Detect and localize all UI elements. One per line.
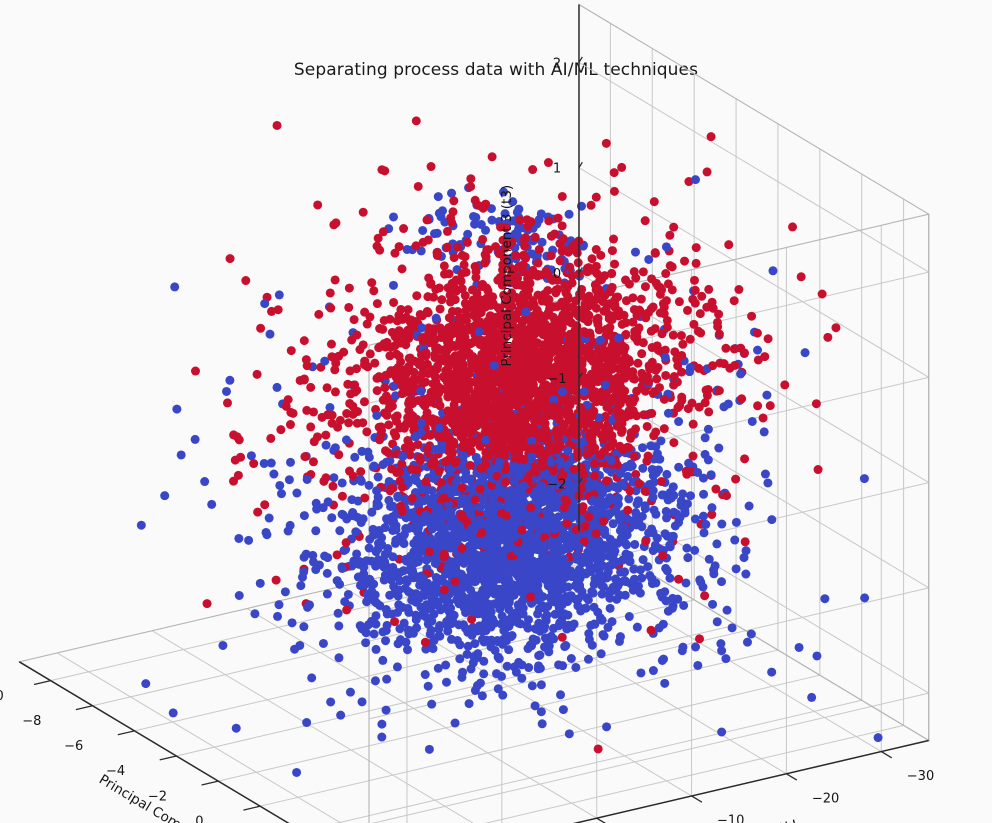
- scatter-point: [466, 182, 475, 191]
- scatter-point: [647, 626, 656, 635]
- scatter-point: [557, 247, 566, 256]
- scatter-point: [361, 638, 370, 647]
- scatter-point: [677, 331, 686, 340]
- scatter-point: [355, 345, 364, 354]
- scatter-point: [623, 515, 632, 524]
- scatter-point: [477, 220, 486, 229]
- scatter3d-axes[interactable]: −10−8−6−4−2024−30−20−1001020−2−1012Princ…: [0, 0, 992, 823]
- scatter-point: [610, 482, 619, 491]
- scatter-point: [350, 453, 359, 462]
- scatter-point: [686, 335, 695, 344]
- scatter-point: [650, 387, 659, 396]
- scatter-point: [724, 399, 733, 408]
- scatter-point: [338, 492, 347, 501]
- scatter-point: [375, 324, 384, 333]
- scatter-point: [421, 477, 430, 486]
- scatter-point: [235, 591, 244, 600]
- scatter-point: [440, 585, 449, 594]
- scatter-point: [722, 491, 731, 500]
- scatter-point: [576, 606, 585, 615]
- scatter-point: [788, 222, 797, 231]
- scatter-point: [549, 467, 558, 476]
- scatter-point: [232, 724, 241, 733]
- scatter-point: [395, 424, 404, 433]
- scatter-point: [494, 684, 503, 693]
- scatter-point: [608, 246, 617, 255]
- scatter-point: [641, 387, 650, 396]
- scatter-point: [422, 348, 431, 357]
- scatter-point: [661, 564, 670, 573]
- scatter-point: [234, 471, 243, 480]
- scatter-point: [422, 215, 431, 224]
- scatter-point: [372, 547, 381, 556]
- scatter-point: [406, 354, 415, 363]
- scatter-point: [586, 621, 595, 630]
- scatter-point: [689, 420, 698, 429]
- scatter-point: [462, 415, 471, 424]
- scatter-point: [445, 339, 454, 348]
- scatter-point: [644, 452, 653, 461]
- scatter-point: [491, 517, 500, 526]
- scatter-point: [609, 235, 618, 244]
- scatter-point: [475, 516, 484, 525]
- scatter-point: [435, 466, 444, 475]
- scatter-point: [249, 459, 258, 468]
- scatter-point: [409, 570, 418, 579]
- scatter-point: [414, 557, 423, 566]
- scatter-point: [431, 559, 440, 568]
- scatter-point: [570, 245, 579, 254]
- scatter-point: [651, 442, 660, 451]
- scatter-point: [513, 547, 522, 556]
- scatter-point: [601, 305, 610, 314]
- scatter-point: [641, 487, 650, 496]
- scatter-point: [678, 340, 687, 349]
- scatter-point: [380, 383, 389, 392]
- scatter-point: [645, 571, 654, 580]
- scatter-point: [428, 524, 437, 533]
- scatter-point: [669, 482, 678, 491]
- scatter-point: [350, 315, 359, 324]
- scatter-point: [428, 460, 437, 469]
- scatter-point: [495, 411, 504, 420]
- scatter-point: [509, 507, 518, 516]
- scatter-point: [552, 425, 561, 434]
- scatter-point: [762, 391, 771, 400]
- scatter-point: [500, 519, 509, 528]
- scatter-point: [717, 520, 726, 529]
- scatter-point: [260, 299, 269, 308]
- scatter-point: [655, 623, 664, 632]
- scatter-point: [388, 610, 397, 619]
- scatter-point: [460, 371, 469, 380]
- scatter-point: [467, 378, 476, 387]
- scatter-point: [287, 346, 296, 355]
- scatter-point: [382, 706, 391, 715]
- scatter-point: [734, 285, 743, 294]
- scatter-point: [425, 547, 434, 556]
- scatter-point: [622, 540, 631, 549]
- scatter-point: [241, 276, 250, 285]
- scatter-point: [538, 494, 547, 503]
- scatter-point: [600, 632, 609, 641]
- scatter-point: [393, 662, 402, 671]
- scatter-point: [479, 669, 488, 678]
- scatter-point: [585, 351, 594, 360]
- scatter-point: [365, 453, 374, 462]
- scatter-point: [398, 483, 407, 492]
- scatter-point: [275, 290, 284, 299]
- scatter-point: [482, 404, 491, 413]
- scatter-point: [731, 475, 740, 484]
- scatter-point: [499, 489, 508, 498]
- scatter-point: [820, 594, 829, 603]
- scatter-point: [373, 299, 382, 308]
- scatter-point: [678, 643, 687, 652]
- scatter-point: [286, 521, 295, 530]
- scatter-point: [453, 636, 462, 645]
- scatter-point: [367, 557, 376, 566]
- scatter-point: [396, 305, 405, 314]
- scatter-point: [436, 401, 445, 410]
- scatter-point: [488, 152, 497, 161]
- scatter-point: [445, 269, 454, 278]
- scatter-point: [540, 624, 549, 633]
- scatter-point: [339, 348, 348, 357]
- scatter-point: [622, 296, 631, 305]
- scatter-point: [300, 511, 309, 520]
- scatter-point: [528, 444, 537, 453]
- scatter-point: [418, 226, 427, 235]
- scatter-point: [682, 544, 691, 553]
- scatter-point: [160, 491, 169, 500]
- scatter-point: [721, 654, 730, 663]
- scatter-point: [346, 688, 355, 697]
- scatter-point: [172, 405, 181, 414]
- scatter-point: [327, 513, 336, 522]
- scatter-point: [614, 500, 623, 509]
- scatter-point: [372, 645, 381, 654]
- scatter-point: [387, 513, 396, 522]
- scatter-point: [503, 544, 512, 553]
- scatter-point: [471, 262, 480, 271]
- scatter-point: [535, 590, 544, 599]
- scatter-point: [709, 569, 718, 578]
- scatter-point: [333, 576, 342, 585]
- scatter-point: [614, 334, 623, 343]
- scatter-point: [486, 642, 495, 651]
- scatter-point: [434, 192, 443, 201]
- scatter-point: [519, 260, 528, 269]
- scatter-point: [394, 600, 403, 609]
- scatter-point: [625, 406, 634, 415]
- scatter-point: [596, 251, 605, 260]
- scatter-point: [329, 353, 338, 362]
- scatter-point: [576, 403, 585, 412]
- scatter-point: [674, 575, 683, 584]
- scatter-point: [560, 420, 569, 429]
- scatter-point: [523, 215, 532, 224]
- scatter-point: [638, 512, 647, 521]
- scatter-point: [471, 196, 480, 205]
- scatter-point: [690, 276, 699, 285]
- scatter-point: [567, 572, 576, 581]
- scatter-point: [587, 201, 596, 210]
- scatter-point: [443, 243, 452, 252]
- scatter-point: [299, 622, 308, 631]
- scatter-point: [465, 699, 474, 708]
- scatter-point: [694, 364, 703, 373]
- scatter-point: [558, 192, 567, 201]
- scatter-point: [335, 526, 344, 535]
- scatter-point: [661, 371, 670, 380]
- scatter-point: [455, 654, 464, 663]
- scatter-point: [424, 682, 433, 691]
- scatter-point: [764, 334, 773, 343]
- scatter-point: [659, 299, 668, 308]
- scatter-point: [436, 345, 445, 354]
- scatter-point: [551, 288, 560, 297]
- scatter-point: [584, 629, 593, 638]
- scatter-point: [573, 447, 582, 456]
- scatter-point: [302, 718, 311, 727]
- scatter-point: [563, 541, 572, 550]
- scatter-point: [582, 309, 591, 318]
- scatter-point: [679, 601, 688, 610]
- scatter-point: [554, 355, 563, 364]
- scatter-point: [543, 539, 552, 548]
- scatter-point: [435, 506, 444, 515]
- scatter-point: [622, 318, 631, 327]
- scatter-point: [452, 595, 461, 604]
- scatter-point: [730, 296, 739, 305]
- scatter-point: [638, 443, 647, 452]
- scatter-point: [534, 661, 543, 670]
- scatter-point: [700, 591, 709, 600]
- scatter-point: [652, 279, 661, 288]
- scatter-point: [539, 354, 548, 363]
- scatter-point: [644, 255, 653, 264]
- scatter-point: [356, 621, 365, 630]
- scatter-point: [478, 235, 487, 244]
- scatter-point: [441, 457, 450, 466]
- scatter-point: [370, 630, 379, 639]
- scatter-point: [457, 277, 466, 286]
- scatter-point: [441, 661, 450, 670]
- scatter-point: [403, 413, 412, 422]
- scatter-point: [629, 374, 638, 383]
- scatter-point: [561, 288, 570, 297]
- scatter-point: [696, 309, 705, 318]
- scatter-point: [428, 644, 437, 653]
- scatter-point: [586, 447, 595, 456]
- scatter-point: [516, 484, 525, 493]
- scatter-point: [542, 294, 551, 303]
- scatter-point: [525, 576, 534, 585]
- scatter-point: [607, 341, 616, 350]
- scatter-point: [641, 537, 650, 546]
- scatter-point: [367, 278, 376, 287]
- scatter-point: [170, 282, 179, 291]
- scatter-point: [662, 513, 671, 522]
- scatter-point: [200, 477, 209, 486]
- scatter-point: [591, 529, 600, 538]
- scatter-point: [558, 613, 567, 622]
- scatter-point: [452, 537, 461, 546]
- scatter-point: [651, 510, 660, 519]
- scatter-point: [601, 365, 610, 374]
- scatter-point: [310, 437, 319, 446]
- scatter-point: [704, 425, 713, 434]
- scatter-point: [674, 417, 683, 426]
- scatter-point: [514, 602, 523, 611]
- scatter-point: [669, 223, 678, 232]
- scatter-point: [602, 139, 611, 148]
- scatter-point: [597, 649, 606, 658]
- scatter-point: [177, 450, 186, 459]
- scatter-point: [669, 532, 678, 541]
- scatter-point: [637, 574, 646, 583]
- scatter-point: [267, 459, 276, 468]
- scatter-point: [538, 482, 547, 491]
- scatter-point: [531, 701, 540, 710]
- scatter-point: [314, 310, 323, 319]
- scatter-point: [266, 434, 275, 443]
- scatter-point: [466, 461, 475, 470]
- scatter-point: [451, 422, 460, 431]
- scatter-point: [651, 428, 660, 437]
- scatter-point: [736, 369, 745, 378]
- scatter-point: [544, 158, 553, 167]
- scatter-point: [588, 496, 597, 505]
- scatter-point: [321, 431, 330, 440]
- scatter-point: [743, 638, 752, 647]
- scatter-point: [549, 313, 558, 322]
- scatter-point: [592, 193, 601, 202]
- scatter-point: [404, 334, 413, 343]
- scatter-point: [547, 458, 556, 467]
- scatter-point: [412, 116, 421, 125]
- scatter-point: [395, 468, 404, 477]
- scatter-point: [382, 675, 391, 684]
- scatter-point: [600, 526, 609, 535]
- scatter-point: [668, 594, 677, 603]
- scatter-point: [273, 121, 282, 130]
- scatter-point: [688, 295, 697, 304]
- scatter-point: [459, 528, 468, 537]
- scatter-point: [244, 536, 253, 545]
- scatter-point: [550, 229, 559, 238]
- scatter-point: [768, 266, 777, 275]
- scatter-point: [797, 272, 806, 281]
- scatter-point: [234, 534, 243, 543]
- scatter-point: [657, 477, 666, 486]
- scatter-point: [545, 503, 554, 512]
- scatter-point: [528, 165, 537, 174]
- scatter-point: [250, 609, 259, 618]
- scatter-point: [626, 486, 635, 495]
- scatter-point: [468, 403, 477, 412]
- scatter-point: [342, 409, 351, 418]
- scatter-point: [728, 623, 737, 632]
- scatter-point: [260, 500, 269, 509]
- scatter-point: [532, 625, 541, 634]
- scatter-point: [711, 485, 720, 494]
- scatter-point: [621, 591, 630, 600]
- scatter-point: [691, 643, 700, 652]
- scatter-point: [724, 240, 733, 249]
- scatter-point: [529, 386, 538, 395]
- scatter-point: [670, 347, 679, 356]
- scatter-point: [556, 690, 565, 699]
- scatter-point: [458, 442, 467, 451]
- scatter-point: [574, 258, 583, 267]
- scatter-point: [389, 212, 398, 221]
- scatter-point: [595, 575, 604, 584]
- scatter-point: [522, 621, 531, 630]
- scatter-point: [574, 584, 583, 593]
- scatter-point: [515, 583, 524, 592]
- scatter-point: [690, 546, 699, 555]
- scatter-point: [650, 197, 659, 206]
- scatter-point: [467, 631, 476, 640]
- scatter-point: [621, 276, 630, 285]
- scatter-point: [715, 330, 724, 339]
- scatter-point: [780, 380, 789, 389]
- scatter-point: [427, 162, 436, 171]
- scatter-point: [658, 593, 667, 602]
- scatter-point: [323, 590, 332, 599]
- scatter-point: [451, 458, 460, 467]
- scatter-point: [741, 570, 750, 579]
- scatter-point: [350, 512, 359, 521]
- scatter-point: [660, 395, 669, 404]
- scatter-point: [592, 286, 601, 295]
- scatter-point: [575, 566, 584, 575]
- scatter-point: [342, 538, 351, 547]
- scatter-point: [431, 415, 440, 424]
- scatter-point: [378, 627, 387, 636]
- scatter-point: [450, 253, 459, 262]
- scatter-point: [300, 336, 309, 345]
- scatter-point: [639, 267, 648, 276]
- scatter-point: [514, 658, 523, 667]
- scatter-point: [344, 303, 353, 312]
- scatter-point: [524, 325, 533, 334]
- scatter-point: [306, 383, 315, 392]
- scatter-point: [445, 511, 454, 520]
- scatter-point: [446, 544, 455, 553]
- scatter-point: [494, 599, 503, 608]
- scatter-point: [562, 519, 571, 528]
- scatter-point: [404, 608, 413, 617]
- scatter-point: [823, 333, 832, 342]
- scatter-point: [461, 291, 470, 300]
- scatter-point: [807, 693, 816, 702]
- scatter-point: [753, 346, 762, 355]
- scatter-point: [537, 680, 546, 689]
- scatter-point: [683, 306, 692, 315]
- scatter-point: [554, 214, 563, 223]
- scatter-point: [529, 349, 538, 358]
- scatter-point: [818, 290, 827, 299]
- scatter-point: [662, 242, 671, 251]
- scatter-point: [429, 379, 438, 388]
- scatter-point: [693, 468, 702, 477]
- scatter-point: [740, 454, 749, 463]
- scatter-point: [562, 312, 571, 321]
- scatter-point: [646, 409, 655, 418]
